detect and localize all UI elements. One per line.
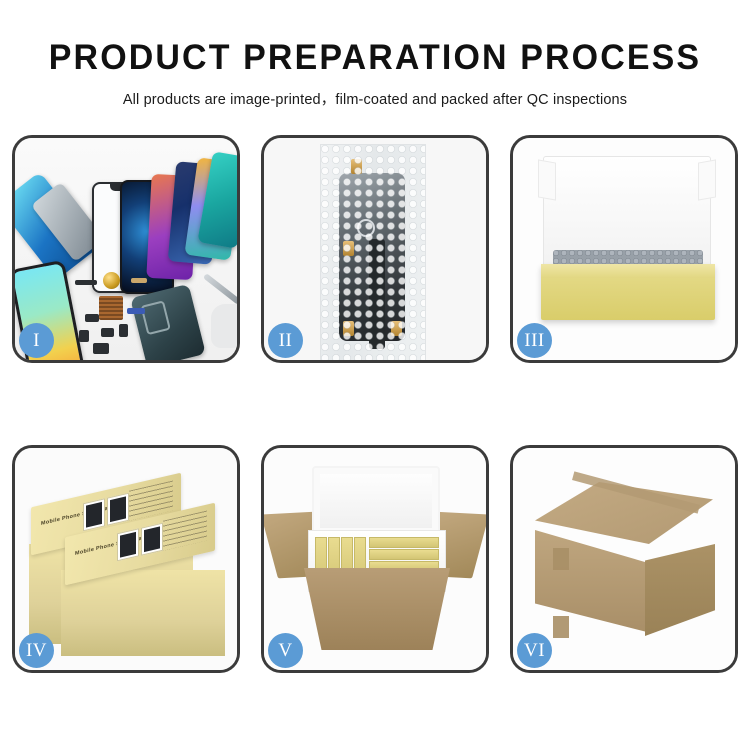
step-panel-3: III <box>510 135 738 363</box>
step-badge-6: VI <box>517 633 552 668</box>
carton-front-face <box>535 530 647 632</box>
page-title: PRODUCT PREPARATION PROCESS <box>11 40 739 75</box>
box-spec-lines-lower <box>163 511 207 551</box>
carton-side-face <box>645 544 715 636</box>
component-small-2-icon <box>79 330 89 342</box>
component-bar-icon <box>75 280 97 285</box>
box-thumb-lower-1 <box>117 528 139 561</box>
gold-coil-icon <box>103 272 120 289</box>
step-panel-1: I <box>12 135 240 363</box>
box-stack-right-side <box>61 570 225 656</box>
step-panel-6: VI <box>510 445 738 673</box>
carton-tab-upper <box>553 548 569 570</box>
bubble-texture <box>321 145 425 360</box>
box-lip <box>541 264 715 278</box>
step-badge-2: II <box>268 323 303 358</box>
carton-body-icon <box>304 568 450 650</box>
foam-lid-icon <box>312 466 440 536</box>
component-small-4-icon <box>119 324 128 337</box>
step-panel-4: Mobile Phone Spare Parts Mobile Phone Sp… <box>12 445 240 673</box>
process-step-grid: I II <box>12 135 738 673</box>
inner-box-6 <box>369 549 439 560</box>
step-panel-2: II <box>261 135 489 363</box>
tweezers-icon <box>203 273 237 305</box>
box-thumb-lower-2 <box>141 523 163 556</box>
yellow-inner-box-icon <box>541 264 715 320</box>
component-connector-icon <box>131 278 147 283</box>
product-preparation-infographic: PRODUCT PREPARATION PROCESS All products… <box>0 0 750 750</box>
back-housing-icon <box>130 284 206 360</box>
page-subtitle: All products are image-printed，film-coat… <box>0 88 750 109</box>
step-badge-3: III <box>517 323 552 358</box>
box-stack-right <box>61 570 225 656</box>
step-badge-1: I <box>19 323 54 358</box>
box-thumb-upper-1 <box>83 498 105 531</box>
component-small-5-icon <box>93 343 109 354</box>
inner-box-5 <box>369 537 439 548</box>
header: PRODUCT PREPARATION PROCESS All products… <box>0 0 750 109</box>
step-badge-4: IV <box>19 633 54 668</box>
hand-icon <box>211 304 237 348</box>
step-panel-5: V <box>261 445 489 673</box>
circuit-chip-icon <box>99 296 123 320</box>
component-small-1-icon <box>85 314 99 322</box>
component-flex-icon <box>127 308 145 314</box>
bubble-bag-icon <box>320 144 426 360</box>
carton-tab-lower <box>553 616 569 638</box>
box-thumb-upper-2 <box>107 493 129 526</box>
step-badge-5: V <box>268 633 303 668</box>
component-small-3-icon <box>101 328 114 337</box>
